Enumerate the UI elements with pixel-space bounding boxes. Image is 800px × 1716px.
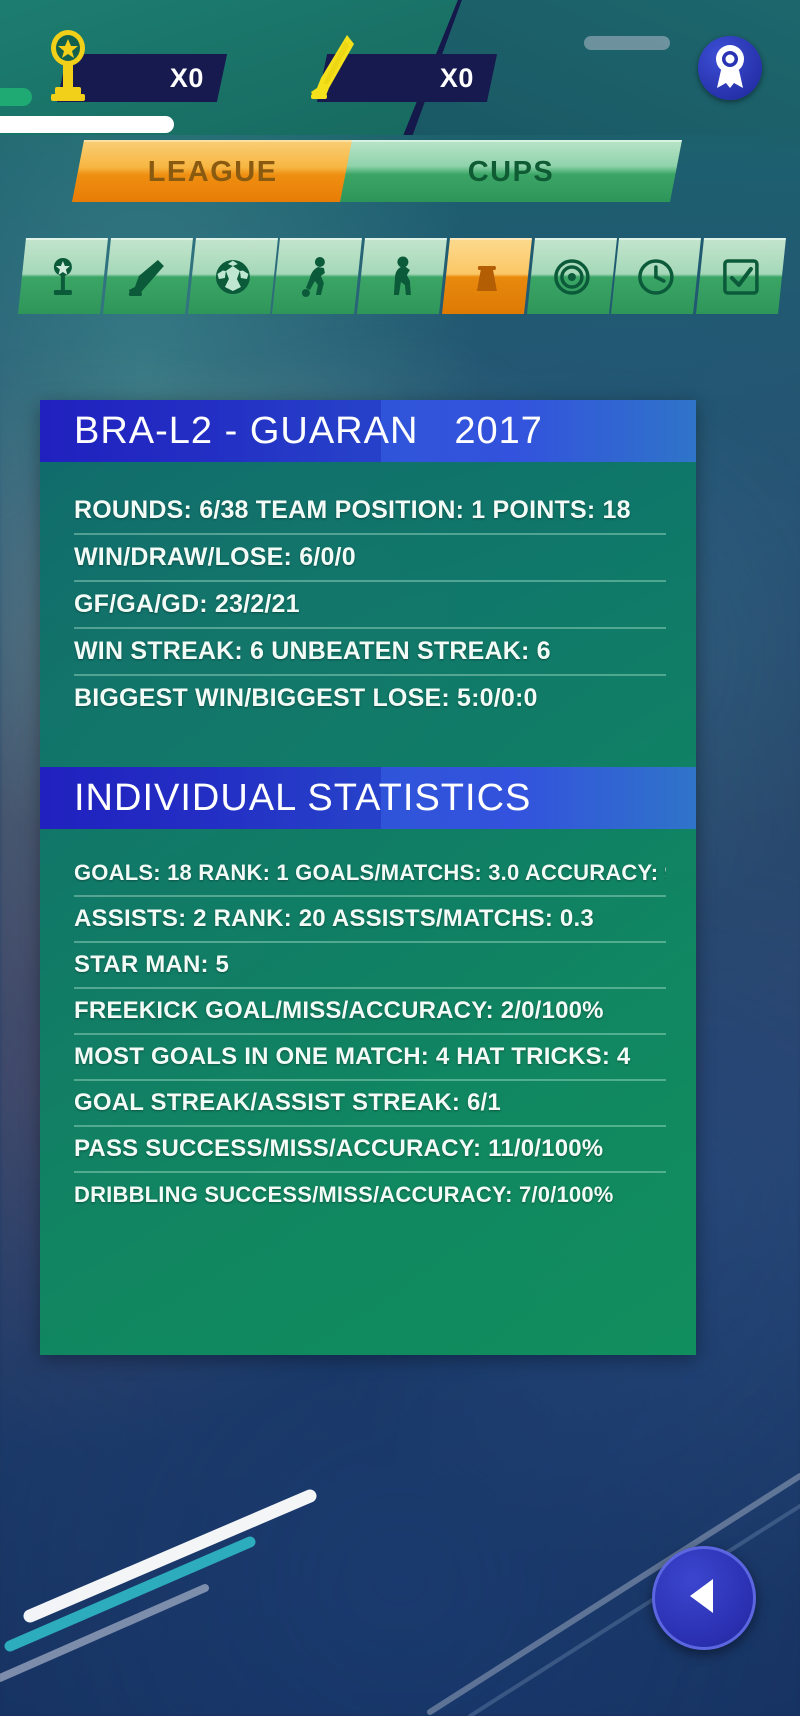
individual-stat-rows: GOALS: 18 RANK: 1 GOALS/MATCHS: 3.0 ACCU… xyxy=(40,829,696,1217)
stat-category-iconbar xyxy=(22,238,782,314)
individual-section-header: INDIVIDUAL STATISTICS xyxy=(40,767,696,829)
boot-icon xyxy=(305,32,359,102)
table-row: STAR MAN: 5 xyxy=(74,943,666,989)
table-row: ROUNDS: 6/38 TEAM POSITION: 1 POINTS: 18 xyxy=(74,488,666,535)
checkbox-icon xyxy=(718,254,764,300)
league-section-header: BRA-L2 - GUARAN 2017 xyxy=(40,400,696,462)
stat-streaks: WIN STREAK: 6 UNBEATEN STREAK: 6 xyxy=(74,637,551,666)
category-tabs: LEAGUE CUPS xyxy=(0,140,800,210)
stat-rounds-position-points: ROUNDS: 6/38 TEAM POSITION: 1 POINTS: 18 xyxy=(74,496,631,525)
back-button[interactable] xyxy=(652,1546,756,1650)
ball-icon xyxy=(209,254,255,300)
stat-pass-success: PASS SUCCESS/MISS/ACCURACY: 11/0/100% xyxy=(74,1135,603,1163)
icon-cell-clock[interactable] xyxy=(611,238,701,314)
table-row: WIN STREAK: 6 UNBEATEN STREAK: 6 xyxy=(74,629,666,676)
table-row: WIN/DRAW/LOSE: 6/0/0 xyxy=(74,535,666,582)
table-row: GOALS: 18 RANK: 1 GOALS/MATCHS: 3.0 ACCU… xyxy=(74,851,666,897)
decor-green-pill xyxy=(0,88,32,106)
stat-goal-assist-streak: GOAL STREAK/ASSIST STREAK: 6/1 xyxy=(74,1089,501,1117)
stat-assists-rank: ASSISTS: 2 RANK: 20 ASSISTS/MATCHS: 0.3 xyxy=(74,905,594,933)
background-diagonal-lines xyxy=(0,1356,800,1716)
game-screen: X0 X0 xyxy=(0,0,800,1716)
decor-white-bar xyxy=(0,116,174,133)
player-dribbling-icon xyxy=(294,254,340,300)
target-icon xyxy=(548,254,594,300)
table-row: GF/GA/GD: 23/2/21 xyxy=(74,582,666,629)
icon-cell-podium[interactable] xyxy=(442,238,532,314)
trophy-count-label: X0 xyxy=(170,63,204,94)
league-title: BRA-L2 - GUARAN xyxy=(74,410,418,453)
stat-biggest-win-lose: BIGGEST WIN/BIGGEST LOSE: 5:0/0:0 xyxy=(74,684,538,713)
stat-gf-ga-gd: GF/GA/GD: 23/2/21 xyxy=(74,590,300,619)
back-arrow-icon xyxy=(682,1573,726,1624)
tab-league[interactable]: LEAGUE xyxy=(72,140,354,202)
player-running-icon xyxy=(379,254,425,300)
trophy-icon xyxy=(42,30,94,102)
stat-star-man: STAR MAN: 5 xyxy=(74,951,229,979)
trophy-stand-icon xyxy=(40,254,86,300)
table-row: PASS SUCCESS/MISS/ACCURACY: 11/0/100% xyxy=(74,1127,666,1173)
icon-cell-player-dribbling[interactable] xyxy=(272,238,362,314)
stat-freekick: FREEKICK GOAL/MISS/ACCURACY: 2/0/100% xyxy=(74,997,604,1025)
stat-goals-rank-accuracy: GOALS: 18 RANK: 1 GOALS/MATCHS: 3.0 ACCU… xyxy=(74,860,666,886)
table-row: BIGGEST WIN/BIGGEST LOSE: 5:0/0:0 xyxy=(74,676,666,721)
table-row: GOAL STREAK/ASSIST STREAK: 6/1 xyxy=(74,1081,666,1127)
league-title-wrap: BRA-L2 - GUARAN 2017 xyxy=(74,410,543,453)
table-row: ASSISTS: 2 RANK: 20 ASSISTS/MATCHS: 0.3 xyxy=(74,897,666,943)
section-spacer xyxy=(40,721,696,767)
stat-win-draw-lose: WIN/DRAW/LOSE: 6/0/0 xyxy=(74,543,356,572)
tab-league-label: LEAGUE xyxy=(148,156,278,189)
icon-cell-trophy-stand[interactable] xyxy=(18,238,108,314)
icon-cell-ball[interactable] xyxy=(188,238,278,314)
stat-most-goals-hattricks: MOST GOALS IN ONE MATCH: 4 HAT TRICKS: 4 xyxy=(74,1043,630,1071)
stat-dribbling-success: DRIBBLING SUCCESS/MISS/ACCURACY: 7/0/100… xyxy=(74,1182,614,1208)
statistics-panel: BRA-L2 - GUARAN 2017 ROUNDS: 6/38 TEAM P… xyxy=(40,400,696,1355)
clock-icon xyxy=(633,254,679,300)
podium-icon xyxy=(464,254,510,300)
icon-cell-target[interactable] xyxy=(527,238,617,314)
medal-icon xyxy=(709,43,751,94)
league-season-year: 2017 xyxy=(454,410,543,453)
icon-cell-boot[interactable] xyxy=(103,238,193,314)
boot-count-label: X0 xyxy=(440,63,474,94)
icon-cell-player-running[interactable] xyxy=(357,238,447,314)
table-row: DRIBBLING SUCCESS/MISS/ACCURACY: 7/0/100… xyxy=(74,1173,666,1217)
tab-cups-label: CUPS xyxy=(468,156,555,189)
table-row: FREEKICK GOAL/MISS/ACCURACY: 2/0/100% xyxy=(74,989,666,1035)
league-stat-rows: ROUNDS: 6/38 TEAM POSITION: 1 POINTS: 18… xyxy=(40,462,696,721)
boot-icon xyxy=(125,254,171,300)
icon-cell-checkbox[interactable] xyxy=(696,238,786,314)
tab-cups[interactable]: CUPS xyxy=(340,140,682,202)
achievements-button[interactable] xyxy=(698,36,762,100)
table-row: MOST GOALS IN ONE MATCH: 4 HAT TRICKS: 4 xyxy=(74,1035,666,1081)
decor-gray-pill xyxy=(584,36,670,50)
individual-title: INDIVIDUAL STATISTICS xyxy=(74,777,531,820)
